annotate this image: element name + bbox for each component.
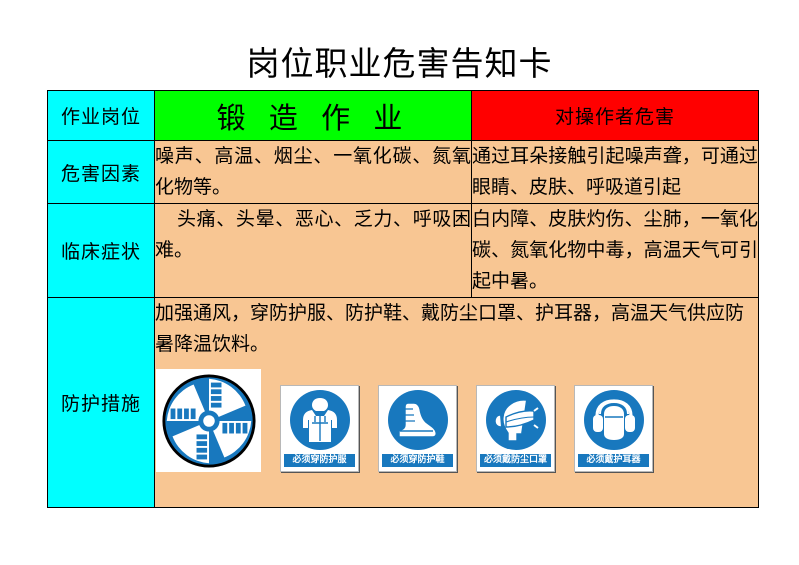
safety-sign-strip: 必须穿防护服 — [155, 369, 758, 472]
protective-clothing-sign: 必须穿防护服 — [280, 385, 359, 472]
dust-mask-icon — [486, 390, 546, 450]
dust-mask-sign: 必须戴防尘口罩 — [476, 385, 555, 472]
sign-caption: 必须戴防尘口罩 — [480, 454, 551, 467]
table-row-header: 作业岗位 锻 造 作 业 对操作者危害 — [48, 91, 759, 141]
protective-measures-cell: 加强通风，穿防护服、防护鞋、戴防尘口罩、护耳器，高温天气供应防暑降温饮料。 — [155, 298, 759, 508]
clinical-symptoms-harm-text: 白内障、皮肤灼伤、尘肺，一氧化碳、氮氧化物中毒，高温天气可引起中暑。 — [472, 204, 759, 298]
hazard-factors-harm-text: 通过耳朵接触引起噪声聋，可通过眼睛、皮肤、呼吸道引起 — [472, 141, 759, 204]
protective-shoes-icon — [388, 390, 448, 450]
sign-caption: 必须穿防护鞋 — [382, 454, 453, 467]
table-row-protective-measures: 防护措施 加强通风，穿防护服、防护鞋、戴防尘口罩、护耳器，高温天气供应防暑降温饮… — [48, 298, 759, 508]
row-label-protective-measures: 防护措施 — [48, 298, 155, 508]
fan-icon — [157, 369, 260, 472]
protective-shoes-sign: 必须穿防护鞋 — [378, 385, 457, 472]
table-row-clinical-symptoms: 临床症状 头痛、头晕、恶心、乏力、呼吸困难。 白内障、皮肤灼伤、尘肺，一氧化碳、… — [48, 204, 759, 298]
ear-protection-icon — [584, 390, 644, 450]
header-harm-to-operator: 对操作者危害 — [472, 91, 759, 141]
page-title: 岗位职业危害告知卡 — [0, 44, 799, 84]
table-row-hazard-factors: 危害因素 噪声、高温、烟尘、一氧化碳、氮氧化物等。 通过耳朵接触引起噪声聋，可通… — [48, 141, 759, 204]
hazard-factors-text: 噪声、高温、烟尘、一氧化碳、氮氧化物等。 — [155, 141, 472, 204]
sign-caption: 必须戴护耳器 — [578, 454, 649, 467]
ear-protection-sign: 必须戴护耳器 — [574, 385, 653, 472]
sign-caption: 必须穿防护服 — [284, 454, 355, 467]
clinical-symptoms-text: 头痛、头晕、恶心、乏力、呼吸困难。 — [155, 204, 472, 298]
row-label-hazard-factors: 危害因素 — [48, 141, 155, 204]
protective-clothing-icon — [290, 390, 350, 450]
row-label-clinical-symptoms: 临床症状 — [48, 204, 155, 298]
hazard-notification-card: 岗位职业危害告知卡 作业岗位 锻 造 作 业 对操作者危害 危害因素 噪声、高温… — [0, 0, 799, 565]
protective-measures-text: 加强通风，穿防护服、防护鞋、戴防尘口罩、护耳器，高温天气供应防暑降温饮料。 — [155, 298, 758, 360]
ventilation-fan-sign — [156, 369, 261, 472]
header-post-name: 锻 造 作 业 — [155, 91, 472, 141]
header-label-post: 作业岗位 — [48, 91, 155, 141]
hazard-table: 作业岗位 锻 造 作 业 对操作者危害 危害因素 噪声、高温、烟尘、一氧化碳、氮… — [47, 90, 759, 508]
